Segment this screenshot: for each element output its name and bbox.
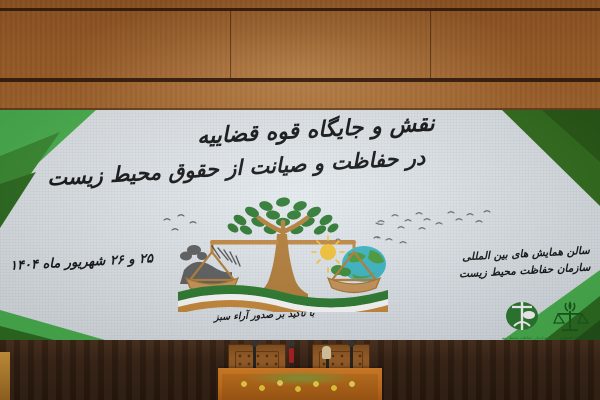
microphone-2-red-marker bbox=[289, 348, 294, 363]
organisation-logos: سازمان حفاظت محیط زیست قوه قضاییه bbox=[502, 296, 594, 342]
wall-seam-top bbox=[0, 8, 600, 11]
judiciary-logo: قوه قضاییه bbox=[554, 301, 588, 341]
wall-seam-middle bbox=[0, 78, 600, 82]
microphone-3-gold-head-icon bbox=[322, 346, 331, 359]
flower-arrangement bbox=[232, 372, 370, 400]
conference-stage-photo: نقش و جایگاه قوه قضاییه در حفاظت و صیانت… bbox=[0, 0, 600, 400]
microphone-4-head-icon bbox=[348, 340, 355, 347]
environment-protection-organization-logo: سازمان حفاظت محیط زیست bbox=[502, 302, 548, 340]
scale-pivot bbox=[278, 237, 288, 247]
left-side-object bbox=[0, 352, 10, 400]
birds-flock-right-icon bbox=[372, 200, 497, 255]
sun-icon bbox=[320, 244, 336, 260]
tree-scales-of-justice-emblem bbox=[178, 192, 388, 312]
wall-vertical-seam-2 bbox=[230, 10, 231, 80]
microphone-2-head-icon bbox=[288, 340, 295, 347]
banner-corner-shape-bottom-left bbox=[0, 286, 150, 342]
microphone-1-head-icon bbox=[251, 340, 258, 347]
wall-vertical-seam-1 bbox=[430, 10, 431, 80]
